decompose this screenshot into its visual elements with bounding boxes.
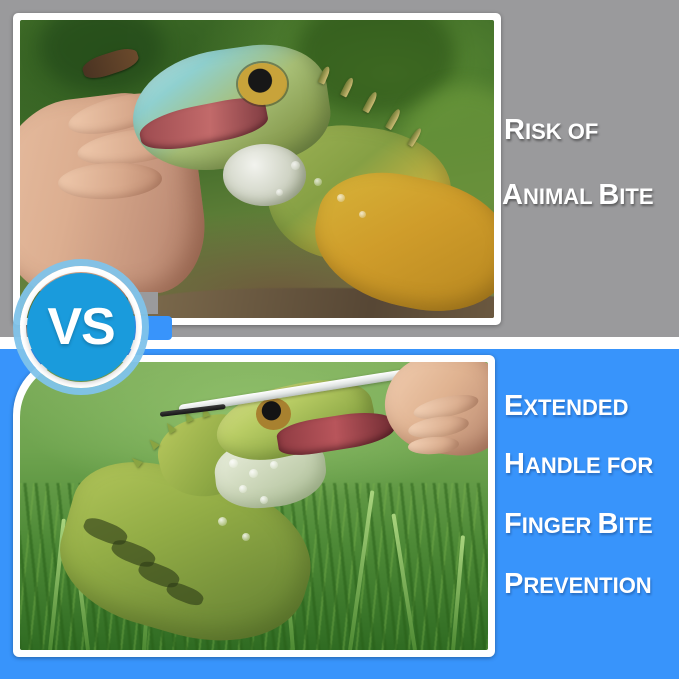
prevention-photo-frame: [13, 355, 495, 657]
prevention-caption-line-3: FINGER BITE: [504, 510, 653, 539]
prevention-caption-rest-3: INGER: [522, 513, 598, 538]
vs-badge: VS: [13, 259, 149, 395]
prevention-photo: [20, 362, 488, 650]
risk-caption-rest-1: ISK OF: [525, 119, 598, 144]
risk-caption-initial-2: A: [502, 179, 523, 211]
risk-caption-line-1: RISK OF: [504, 116, 598, 145]
risk-caption-line-2: ANIMAL BITE: [502, 181, 654, 210]
risk-caption-rest-2b: ITE: [619, 184, 653, 209]
prevention-caption-initial-2: H: [504, 448, 525, 480]
prevention-caption-line-2: HANDLE FOR: [504, 450, 653, 479]
risk-caption-rest-2: NIMAL: [523, 184, 598, 209]
prevention-caption-initial-3b: B: [598, 508, 619, 540]
prevention-caption-rest-1: XTENDED: [523, 395, 628, 420]
iguana: [124, 32, 494, 312]
prevention-caption-initial-4: P: [504, 568, 523, 600]
prevention-caption-rest-2: ANDLE FOR: [525, 453, 653, 478]
prevention-caption-initial-1: E: [504, 390, 523, 422]
risk-caption-initial-2b: B: [598, 179, 619, 211]
vs-label: VS: [27, 273, 135, 381]
risk-caption-initial-1: R: [504, 114, 525, 146]
prevention-caption-rest-4: REVENTION: [523, 573, 651, 598]
infographic-root: RISK OF ANIMAL BITE: [0, 0, 679, 679]
prevention-caption-line-1: EXTENDED: [504, 392, 628, 421]
water-dragon: [76, 379, 422, 644]
prevention-caption-rest-3b: ITE: [618, 513, 652, 538]
prevention-caption-initial-3: F: [504, 508, 522, 540]
prevention-caption-line-4: PREVENTION: [504, 570, 652, 599]
